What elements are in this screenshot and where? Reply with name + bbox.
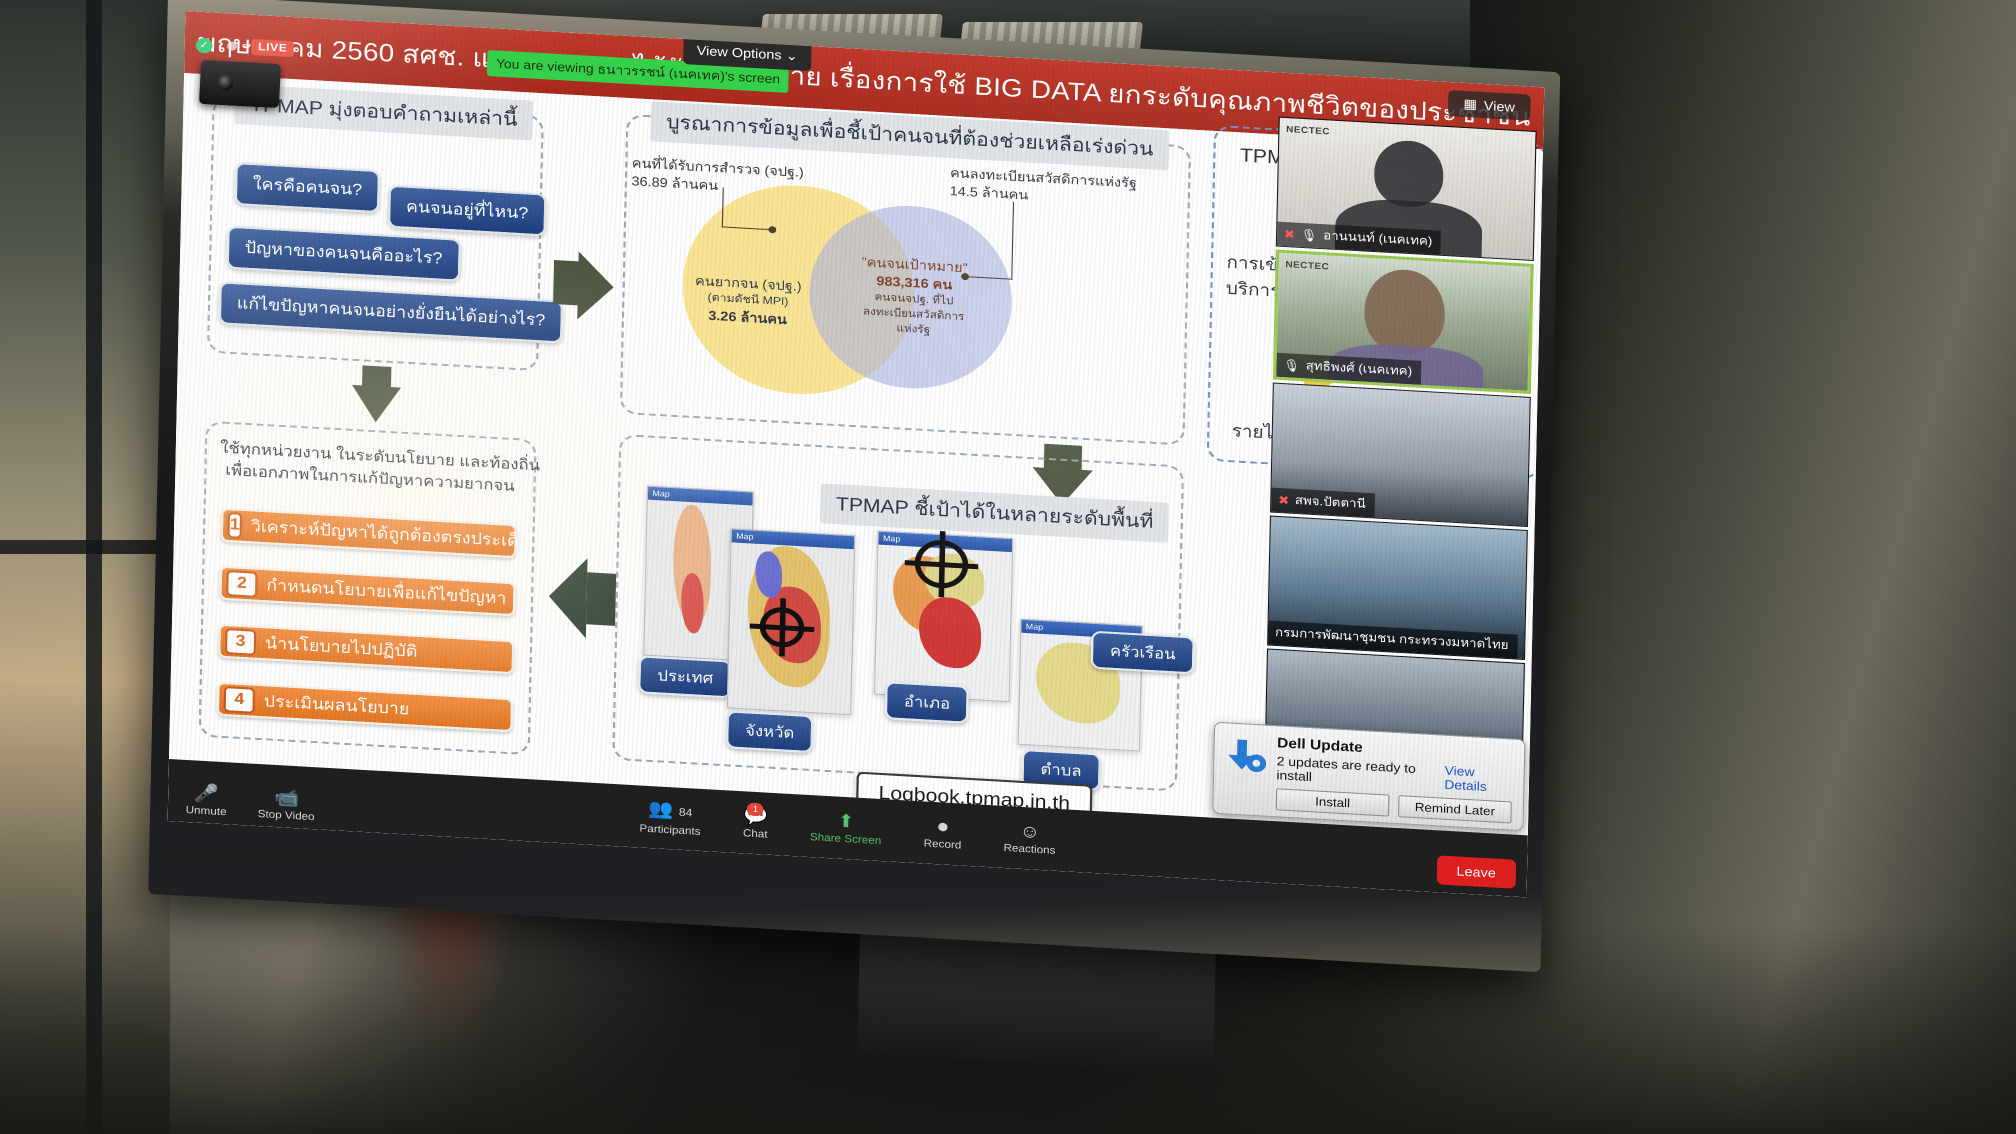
grid-icon: ▦: [1463, 96, 1477, 113]
record-circle-icon: ⏺: [938, 817, 948, 836]
arrow-left-icon: [548, 556, 588, 638]
leader-dot-left: [768, 226, 776, 233]
tv-wrapper: ✓ LIVE พฤษภาคม 2560 สศช. และ เนคเทค ได้ร…: [0, 0, 2016, 1134]
map-level-district: อำเภอ: [885, 681, 970, 724]
step-4-number: 4: [223, 686, 255, 714]
leave-button[interactable]: Leave: [1436, 855, 1516, 888]
tv-screen: ✓ LIVE พฤษภาคม 2560 สศช. และ เนคเทค ได้ร…: [168, 11, 1545, 897]
share-screen-label: Share Screen: [810, 831, 882, 847]
avatar: [1374, 139, 1444, 209]
map-level-province: จังหวัด: [726, 710, 814, 753]
recording-dot-icon: [227, 41, 237, 51]
map-shape: [918, 596, 982, 670]
dell-update-dialog[interactable]: Dell Update 2 updates are ready to insta…: [1212, 722, 1525, 832]
people-icon: 👥 84: [648, 799, 693, 822]
participant-tile-2[interactable]: NECTEC 🎙 สุทธิพงศ์ (เนคเทค): [1273, 250, 1534, 395]
microphone-muted-icon: ✖: [1278, 492, 1289, 507]
step-3-label: นำนโยบายไปปฏิบัติ: [265, 631, 418, 665]
nectec-watermark: NECTEC: [1285, 259, 1329, 271]
television: ✓ LIVE พฤษภาคม 2560 สศช. และ เนคเทค ได้ร…: [148, 0, 1560, 972]
participant-video-strip: NECTEC ✖ 🎙 อานนนท์ (เนคเทค) NECTEC: [1264, 117, 1537, 797]
view-layout-button[interactable]: ▦ View: [1448, 90, 1531, 121]
upload-arrow-icon: ⬆: [837, 811, 854, 830]
share-screen-button[interactable]: ⬆ Share Screen: [810, 810, 882, 847]
view-button-label: View: [1484, 98, 1515, 115]
step-1-number: 1: [227, 512, 242, 539]
participants-label: Participants: [639, 822, 700, 837]
arrow-right-stem: [553, 260, 581, 306]
smiley-icon: ☺: [1019, 821, 1040, 840]
participant-name-2: สุทธิพงศ์ (เนคเทค): [1306, 356, 1413, 381]
step-3-number: 3: [225, 628, 257, 656]
chat-label: Chat: [743, 827, 768, 840]
participant-tile-3[interactable]: ✖ สพจ.ปัตตานี: [1270, 383, 1531, 528]
reactions-label: Reactions: [1003, 841, 1055, 856]
participant-name-3: สพจ.ปัตตานี: [1295, 491, 1366, 514]
tv-bezel: ✓ LIVE พฤษภาคม 2560 สศช. และ เนคเทค ได้ร…: [148, 0, 1560, 972]
chat-button[interactable]: 💬 1 Chat: [743, 806, 769, 840]
view-options-label: View Options: [697, 43, 782, 63]
participant-tile-1[interactable]: NECTEC ✖ 🎙 อานนนท์ (เนคเทค): [1276, 117, 1537, 262]
view-details-link[interactable]: View Details: [1444, 764, 1513, 796]
remind-later-button[interactable]: Remind Later: [1398, 795, 1512, 823]
question-1: ใครคือคนจน?: [235, 162, 381, 213]
unmute-button[interactable]: 🎤 Unmute: [186, 783, 228, 818]
microphone-icon: 🎙: [1283, 358, 1300, 373]
arrow-right-icon: [577, 251, 614, 321]
install-button[interactable]: Install: [1276, 788, 1390, 816]
arrow-down-icon: [351, 385, 401, 424]
webcam: [199, 60, 281, 108]
record-label: Record: [924, 837, 962, 851]
stop-video-label: Stop Video: [258, 808, 315, 823]
download-gear-icon: [1223, 735, 1271, 780]
participants-count: 84: [679, 807, 693, 820]
participants-button[interactable]: 👥 84 Participants: [639, 798, 701, 837]
participant-name-1: อานนนท์ (เนคเทค): [1323, 226, 1433, 251]
microphone-muted-icon: ✖: [1284, 226, 1295, 241]
microphone-muted-icon: 🎤: [194, 783, 219, 802]
zoom-meeting-window: ✓ LIVE พฤษภาคม 2560 สศช. และ เนคเทค ได้ร…: [168, 11, 1545, 897]
zoom-toolbar-left: 🎤 Unmute 📹 Stop Video: [186, 783, 316, 823]
chat-badge: 1: [747, 802, 764, 816]
participant-tile-4[interactable]: กรมการพัฒนาชุมชน กระทรวงมหาดไทย: [1267, 516, 1528, 661]
unmute-label: Unmute: [186, 804, 227, 818]
microphone-icon: 🎙: [1300, 227, 1317, 242]
video-camera-icon: 📹: [274, 788, 299, 807]
nectec-watermark: NECTEC: [1286, 124, 1330, 136]
stop-video-button[interactable]: 📹 Stop Video: [258, 787, 316, 823]
participant-name-bar-3: ✖ สพจ.ปัตตานี: [1271, 488, 1375, 518]
step-2-number: 2: [226, 570, 258, 598]
record-button[interactable]: ⏺ Record: [924, 816, 962, 851]
live-badge: LIVE: [251, 39, 294, 57]
dell-update-message: 2 updates are ready to install: [1276, 754, 1436, 791]
map-level-household: ครัวเรือน: [1091, 631, 1195, 675]
avatar: [1364, 268, 1446, 357]
step-4-label: ประเมินผลนโยบาย: [264, 689, 410, 722]
leader-line-left: [722, 187, 772, 230]
reactions-button[interactable]: ☺ Reactions: [1003, 820, 1056, 856]
map-level-country: ประเทศ: [638, 655, 732, 698]
arrow-left-stem: [586, 572, 616, 626]
question-2: คนจนอยู่ที่ไหน?: [388, 185, 547, 237]
chevron-down-icon: ⌄: [786, 48, 798, 64]
